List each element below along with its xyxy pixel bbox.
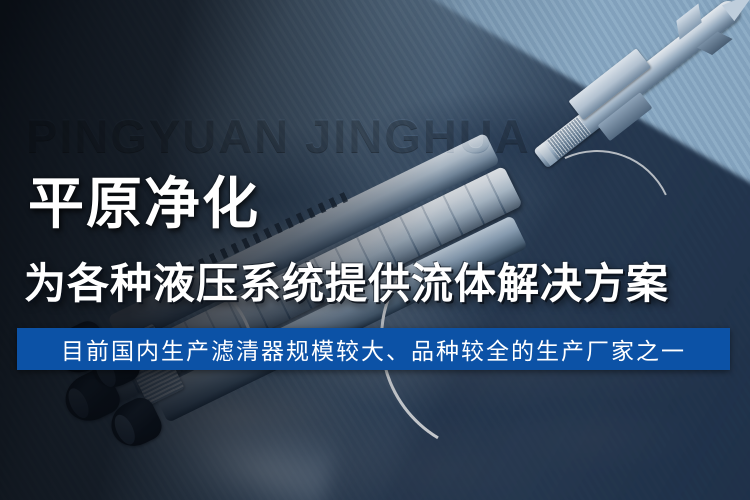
hero-banner: PINGYUAN JINGHUA 平原净化 为各种液压系统提供流体解决方案 目前… <box>0 0 750 500</box>
company-title: 平原净化 <box>28 175 260 234</box>
background-watermark-text: PINGYUAN JINGHUA <box>26 112 531 159</box>
tagline-text: 目前国内生产滤清器规模较大、品种较全的生产厂家之一 <box>61 332 686 366</box>
tagline-ribbon: 目前国内生产滤清器规模较大、品种较全的生产厂家之一 <box>17 328 730 370</box>
banner-content: PINGYUAN JINGHUA 平原净化 为各种液压系统提供流体解决方案 目前… <box>0 0 750 500</box>
banner-subtitle: 为各种液压系统提供流体解决方案 <box>24 261 669 306</box>
